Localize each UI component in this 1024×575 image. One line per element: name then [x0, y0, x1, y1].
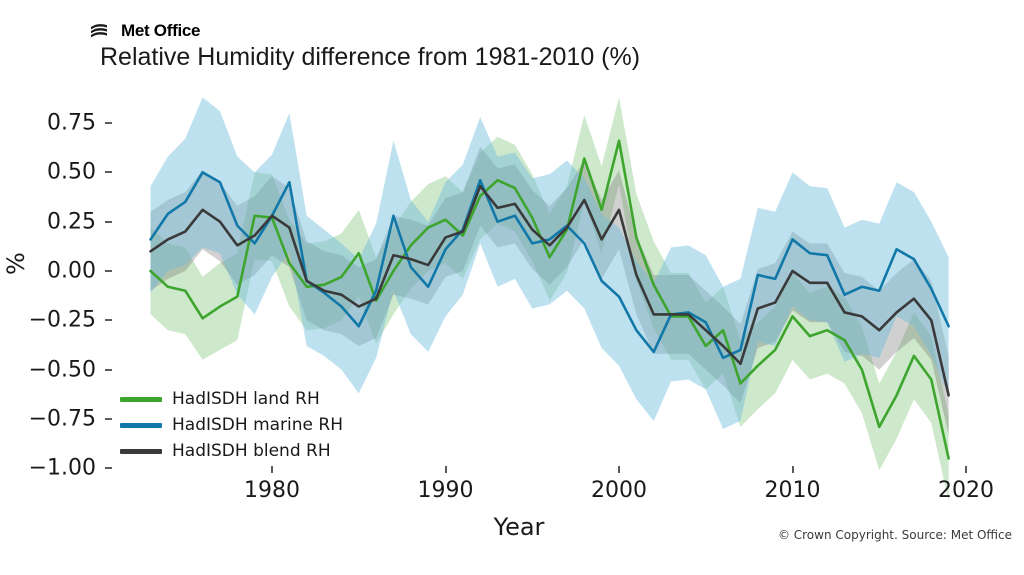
plot-area [0, 0, 1024, 575]
copyright-notice: © Crown Copyright. Source: Met Office [778, 528, 1012, 542]
legend-label-blend: HadISDH blend RH [172, 441, 331, 461]
x-tick-label-2020: 2020 [938, 478, 994, 503]
y-tick-label: −0.25 [0, 308, 96, 333]
legend-swatch-land [120, 397, 162, 402]
chart-legend: HadISDH land RH HadISDH marine RH HadISD… [120, 390, 343, 460]
y-tick-mark [105, 369, 112, 371]
y-tick-label: −1.00 [0, 456, 96, 481]
legend-item-land: HadISDH land RH [120, 390, 343, 408]
legend-item-marine: HadISDH marine RH [120, 416, 343, 434]
y-tick-mark [105, 418, 112, 420]
uncertainty-band-hadisdh-marine-rh [151, 97, 949, 429]
x-tick-label-2000: 2000 [591, 478, 647, 503]
y-tick-label: 0.00 [0, 259, 96, 284]
legend-item-blend: HadISDH blend RH [120, 442, 343, 460]
y-tick-label: −0.75 [0, 407, 96, 432]
y-tick-mark [105, 221, 112, 223]
x-tick-label-1990: 1990 [418, 478, 474, 503]
x-tick-label-1980: 1980 [244, 478, 300, 503]
legend-label-marine: HadISDH marine RH [172, 415, 343, 435]
y-tick-mark [105, 270, 112, 272]
y-tick-label: −0.50 [0, 357, 96, 382]
legend-swatch-blend [120, 449, 162, 454]
y-tick-label: 0.50 [0, 160, 96, 185]
y-tick-mark [105, 122, 112, 124]
x-tick-mark [792, 466, 794, 473]
y-tick-mark [105, 319, 112, 321]
legend-swatch-marine [120, 423, 162, 428]
x-tick-mark [445, 466, 447, 473]
legend-label-land: HadISDH land RH [172, 389, 320, 409]
x-tick-mark [271, 466, 273, 473]
x-tick-label-2010: 2010 [765, 478, 821, 503]
y-tick-mark [105, 467, 112, 469]
x-tick-mark [618, 466, 620, 473]
y-tick-label: 0.75 [0, 111, 96, 136]
y-tick-label: 0.25 [0, 209, 96, 234]
y-tick-mark [105, 171, 112, 173]
x-tick-mark [965, 466, 967, 473]
chart-figure: Met Office Relative Humidity difference … [0, 0, 1024, 575]
